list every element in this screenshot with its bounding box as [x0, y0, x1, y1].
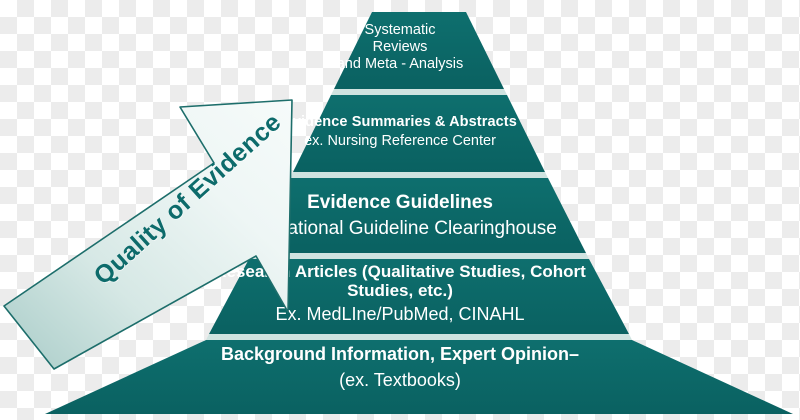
- quality-of-evidence-arrow: [0, 0, 800, 420]
- evidence-pyramid-graphic: Systematic Reviews and Meta - Analysis E…: [0, 0, 800, 420]
